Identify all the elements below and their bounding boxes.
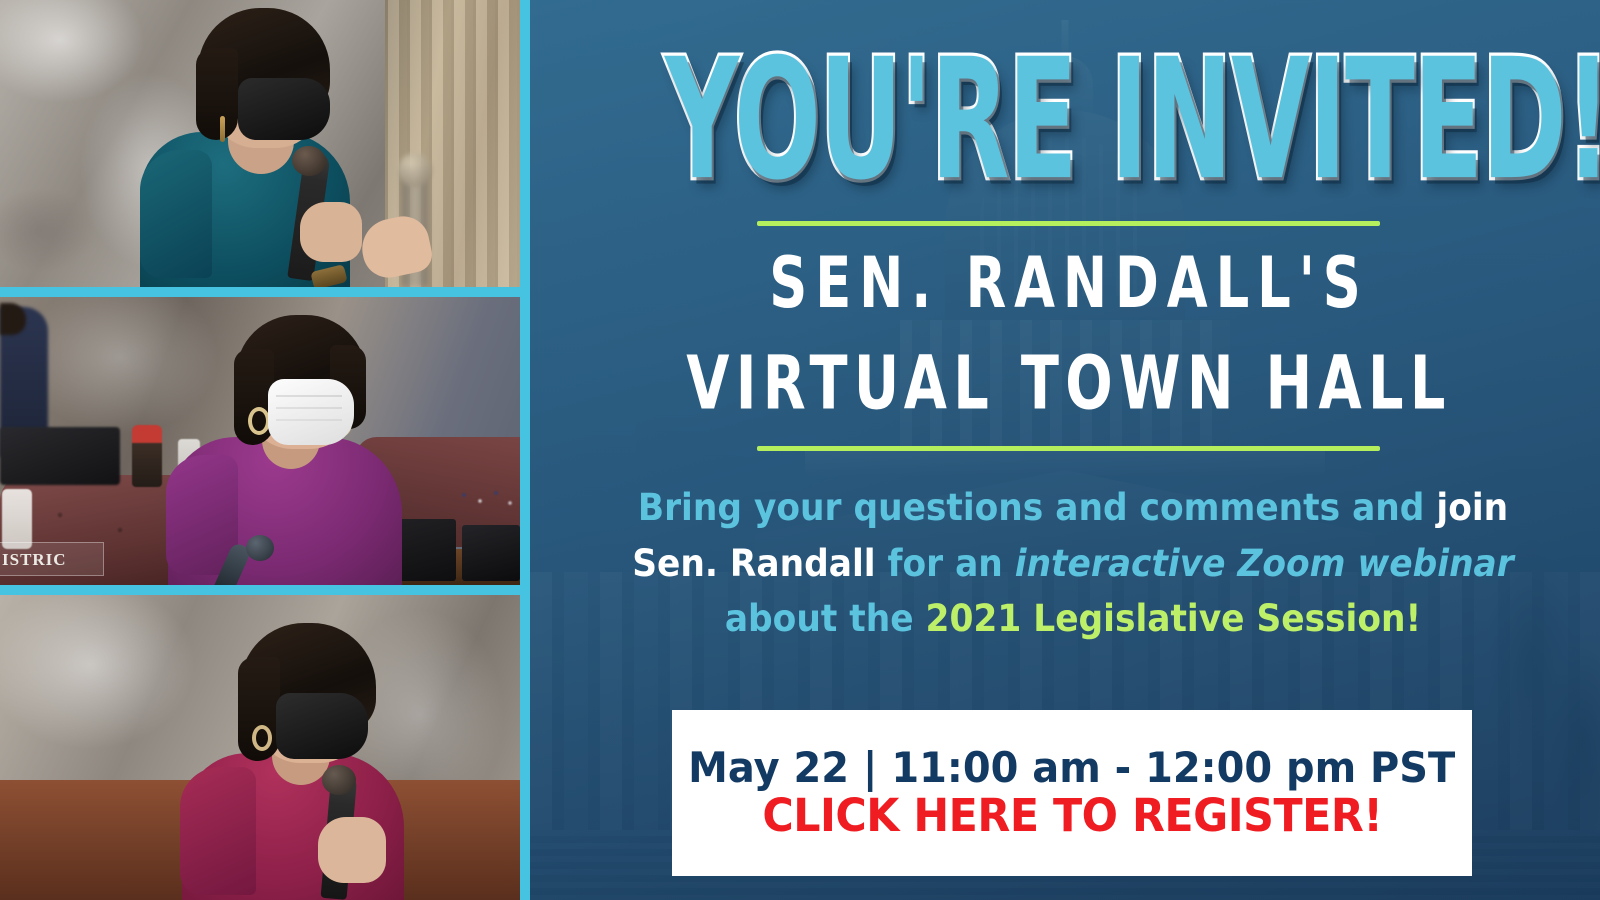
body-segment-session: 2021 Legislative Session! bbox=[926, 597, 1422, 640]
body-segment-join: join bbox=[1436, 486, 1508, 529]
photo-senator-teal-microphone bbox=[0, 0, 520, 287]
photo-overlay bbox=[0, 595, 520, 900]
panel-content: YOU'RE INVITED! SEN. RANDALL'S VIRTUAL T… bbox=[530, 0, 1600, 900]
photo-overlay bbox=[0, 0, 520, 287]
body-segment-4: for an bbox=[876, 542, 1015, 585]
divider-rule-bottom bbox=[757, 446, 1380, 451]
body-segment-senator-name: Sen. Randall bbox=[632, 542, 875, 585]
photo-overlay bbox=[0, 297, 520, 585]
body-segment-6: about the bbox=[725, 597, 926, 640]
subtitle-line-2: VIRTUAL TOWN HALL bbox=[615, 346, 1524, 420]
photo-senator-purple-desk: ISTRIC bbox=[0, 297, 520, 585]
invitation-panel: YOU'RE INVITED! SEN. RANDALL'S VIRTUAL T… bbox=[530, 0, 1600, 900]
photo-senator-crimson-microphone bbox=[0, 595, 520, 900]
event-details-box: May 22 | 11:00 am - 12:00 pm PST CLICK H… bbox=[672, 710, 1472, 876]
register-link[interactable]: CLICK HERE TO REGISTER! bbox=[762, 792, 1382, 839]
divider-rule-top bbox=[757, 221, 1380, 226]
page-title: YOU'RE INVITED! bbox=[665, 38, 1473, 204]
event-description: Bring your questions and comments and jo… bbox=[613, 480, 1534, 647]
photo-strip: ISTRIC bbox=[0, 0, 530, 900]
invitation-poster: ISTRIC bbox=[0, 0, 1600, 900]
event-date-time: May 22 | 11:00 am - 12:00 pm PST bbox=[688, 746, 1455, 790]
body-segment-1: Bring your questions and comments and bbox=[638, 486, 1437, 529]
subtitle-line-1: SEN. RANDALL'S bbox=[625, 248, 1514, 319]
body-segment-zoom-webinar: interactive Zoom webinar bbox=[1015, 542, 1514, 585]
